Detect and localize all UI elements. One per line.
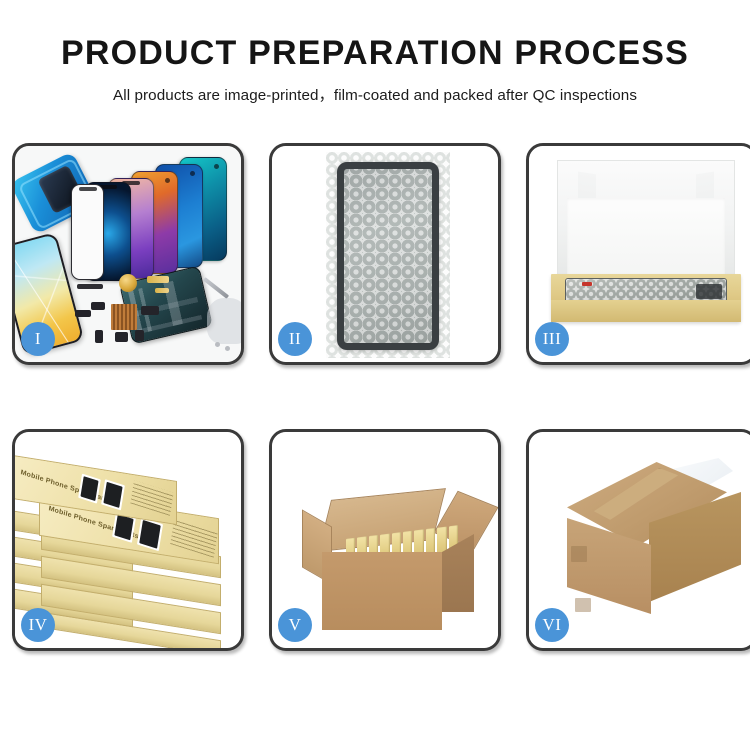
part-battery-connector bbox=[135, 330, 144, 341]
part-button bbox=[95, 330, 103, 343]
part-strip bbox=[77, 284, 103, 289]
camera-punch-icon bbox=[165, 178, 170, 183]
step-badge-3: III bbox=[535, 322, 569, 356]
phone-white-blank bbox=[71, 184, 104, 280]
part-flex-cable bbox=[155, 288, 169, 293]
tray-front-face bbox=[551, 300, 741, 322]
process-steps-grid: I II bbox=[12, 143, 738, 673]
step-badge-6: VI bbox=[535, 608, 569, 642]
page-subtitle: All products are image-printed，film-coat… bbox=[0, 83, 750, 105]
part-screw bbox=[225, 346, 230, 351]
part-speaker bbox=[115, 332, 128, 342]
part-flex-cable bbox=[147, 276, 169, 283]
red-marker-icon bbox=[582, 282, 592, 286]
notch-icon bbox=[79, 187, 97, 191]
product-preparation-infographic: PRODUCT PREPARATION PROCESS All products… bbox=[0, 0, 750, 750]
part-chip bbox=[91, 302, 105, 310]
carton-front-face bbox=[322, 552, 442, 630]
step-panel-2: II bbox=[269, 143, 501, 365]
part-screw bbox=[215, 342, 220, 347]
step-badge-2: II bbox=[278, 322, 312, 356]
kraft-box-tray bbox=[551, 274, 741, 322]
step-panel-5: V bbox=[269, 429, 501, 651]
step-badge-1: I bbox=[21, 322, 55, 356]
step-panel-3: III bbox=[526, 143, 750, 365]
hand-holding-part bbox=[207, 298, 241, 344]
sealed-shipping-carton bbox=[549, 462, 739, 630]
part-chip bbox=[75, 310, 91, 317]
camera-punch-icon bbox=[190, 171, 195, 176]
header: PRODUCT PREPARATION PROCESS All products… bbox=[0, 0, 750, 105]
part-gold-coil bbox=[119, 274, 137, 292]
bubble-wrap-photo bbox=[326, 152, 450, 358]
part-chip bbox=[141, 306, 159, 315]
foam-insert bbox=[567, 198, 725, 276]
step-badge-4: IV bbox=[21, 608, 55, 642]
step-panel-6: VI bbox=[526, 429, 750, 651]
carton-patch bbox=[575, 598, 591, 612]
camera-punch-icon bbox=[214, 164, 219, 169]
step-panel-4: Mobile Phone Spare Parts Mobile Phone Sp… bbox=[12, 429, 244, 651]
carton-patch bbox=[571, 546, 587, 562]
phone-fan-group bbox=[71, 154, 241, 276]
wrapped-screen-assembly bbox=[337, 162, 439, 350]
step-panel-1: I bbox=[12, 143, 244, 365]
connector-area bbox=[696, 284, 722, 299]
open-shipping-carton bbox=[304, 472, 476, 632]
step-badge-5: V bbox=[278, 608, 312, 642]
page-title: PRODUCT PREPARATION PROCESS bbox=[0, 36, 750, 72]
part-connector-grid bbox=[111, 304, 137, 330]
